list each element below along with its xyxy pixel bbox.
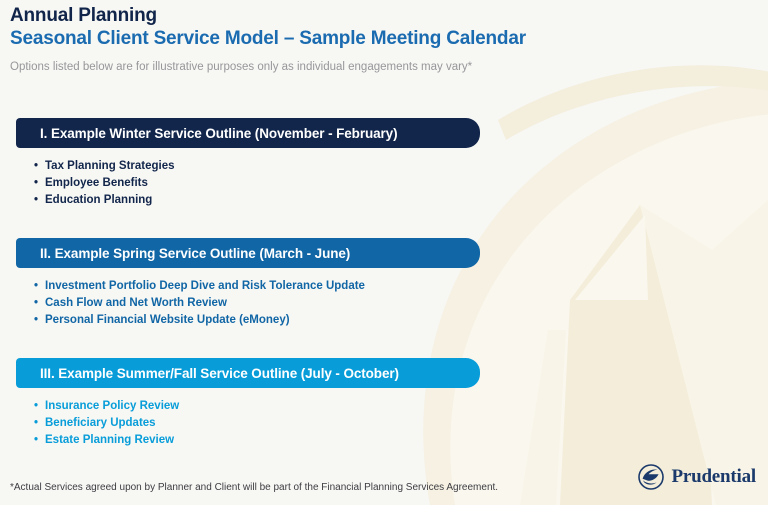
brand-lockup: Prudential	[638, 464, 756, 490]
section-header-bar-summer-fall[interactable]: III. Example Summer/Fall Service Outline…	[16, 358, 480, 388]
bullet-list-summer-fall: • Insurance Policy Review • Beneficiary …	[34, 398, 179, 449]
disclaimer-note: Options listed below are for illustrativ…	[10, 51, 610, 75]
bullet-dot-icon: •	[34, 432, 38, 449]
list-item-label: Education Planning	[45, 194, 152, 206]
list-item: • Education Planning	[34, 192, 175, 209]
list-item-label: Insurance Policy Review	[45, 400, 179, 412]
list-item: • Investment Portfolio Deep Dive and Ris…	[34, 278, 365, 295]
list-item-label: Cash Flow and Net Worth Review	[45, 297, 227, 309]
bullet-dot-icon: •	[34, 295, 38, 312]
bullet-dot-icon: •	[34, 415, 38, 432]
page-subtitle-heading: Seasonal Client Service Model – Sample M…	[10, 27, 610, 51]
section-spring: II. Example Spring Service Outline (Marc…	[0, 238, 768, 268]
bullet-dot-icon: •	[34, 158, 38, 175]
footnote-text: *Actual Services agreed upon by Planner …	[10, 481, 498, 494]
section-title-spring: II. Example Spring Service Outline (Marc…	[40, 246, 350, 261]
section-header-bar-spring[interactable]: II. Example Spring Service Outline (Marc…	[16, 238, 480, 268]
list-item-label: Investment Portfolio Deep Dive and Risk …	[45, 280, 365, 292]
list-item-label: Employee Benefits	[45, 177, 148, 189]
brand-name: Prudential	[671, 466, 756, 488]
section-winter: I. Example Winter Service Outline (Novem…	[0, 118, 768, 148]
list-item: • Tax Planning Strategies	[34, 158, 175, 175]
bullet-list-winter: • Tax Planning Strategies • Employee Ben…	[34, 158, 175, 209]
list-item: • Estate Planning Review	[34, 432, 179, 449]
list-item: • Personal Financial Website Update (eMo…	[34, 312, 365, 329]
bullet-dot-icon: •	[34, 312, 38, 329]
page-title: Annual Planning	[10, 4, 610, 27]
bullet-dot-icon: •	[34, 278, 38, 295]
page-header: Annual Planning Seasonal Client Service …	[10, 4, 610, 75]
bullet-dot-icon: •	[34, 398, 38, 415]
list-item: • Employee Benefits	[34, 175, 175, 192]
prudential-rock-icon	[638, 464, 664, 490]
list-item: • Beneficiary Updates	[34, 415, 179, 432]
section-title-winter: I. Example Winter Service Outline (Novem…	[40, 126, 397, 141]
list-item: • Insurance Policy Review	[34, 398, 179, 415]
list-item-label: Tax Planning Strategies	[45, 160, 175, 172]
bullet-list-spring: • Investment Portfolio Deep Dive and Ris…	[34, 278, 365, 329]
list-item-label: Personal Financial Website Update (eMone…	[45, 314, 290, 326]
bullet-dot-icon: •	[34, 192, 38, 209]
list-item-label: Estate Planning Review	[45, 434, 174, 446]
section-title-summer-fall: III. Example Summer/Fall Service Outline…	[40, 366, 399, 381]
section-header-bar-winter[interactable]: I. Example Winter Service Outline (Novem…	[16, 118, 480, 148]
slide-canvas: Annual Planning Seasonal Client Service …	[0, 0, 768, 505]
list-item: • Cash Flow and Net Worth Review	[34, 295, 365, 312]
section-summer-fall: III. Example Summer/Fall Service Outline…	[0, 358, 768, 388]
bullet-dot-icon: •	[34, 175, 38, 192]
list-item-label: Beneficiary Updates	[45, 417, 156, 429]
